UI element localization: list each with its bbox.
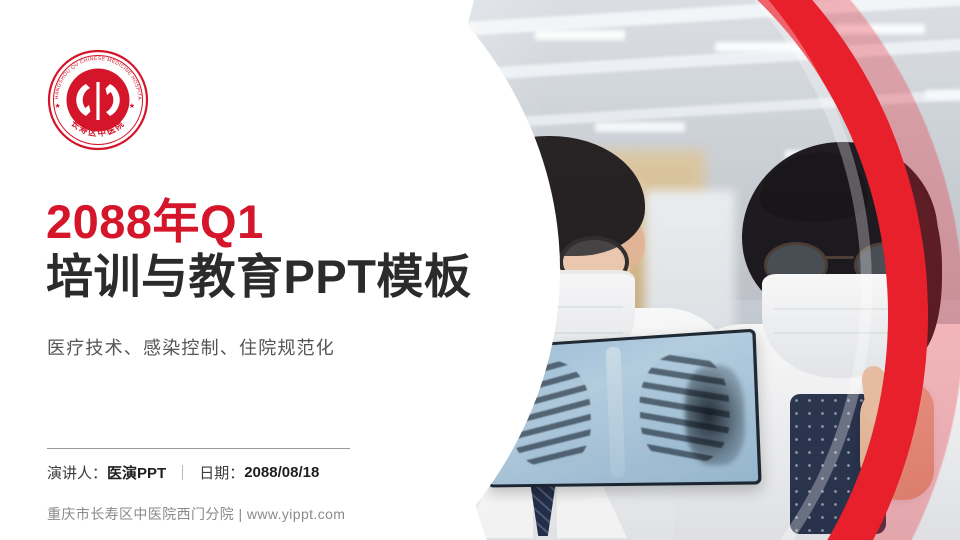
svg-text:★: ★ bbox=[55, 102, 61, 110]
hand-holding-film bbox=[860, 382, 934, 500]
xray-shadow-region bbox=[683, 364, 746, 466]
title-block: 2088年Q1 培训与教育PPT模板 bbox=[46, 196, 516, 304]
glasses-bridge bbox=[822, 256, 854, 259]
hospital-logo: CHANGSHOU QU CHINESE MEDICINE HOSPITAL 长… bbox=[46, 48, 150, 152]
presentation-cover-slide: CHANGSHOU QU CHINESE MEDICINE HOSPITAL 长… bbox=[0, 0, 960, 540]
speaker-label: 演讲人： bbox=[47, 462, 107, 483]
svg-text:★: ★ bbox=[129, 102, 135, 110]
glasses-bridge bbox=[531, 252, 561, 256]
organization-footer: 重庆市长寿区中医院西门分院 | www.yippt.com bbox=[47, 504, 345, 524]
date-value: 2088/08/18 bbox=[244, 464, 319, 481]
lung-field-left bbox=[508, 359, 593, 467]
page-title-year: 2088年Q1 bbox=[46, 196, 516, 249]
speaker-value: 医演PPT bbox=[107, 462, 166, 483]
hair-fringe bbox=[760, 152, 868, 222]
spine bbox=[606, 347, 626, 478]
chest-xray-film bbox=[483, 329, 762, 488]
date-label: 日期： bbox=[199, 462, 244, 483]
footer-divider bbox=[47, 448, 350, 449]
presentation-meta: 演讲人：医演PPT 日期：2088/08/18 bbox=[47, 462, 319, 483]
cover-content: CHANGSHOU QU CHINESE MEDICINE HOSPITAL 长… bbox=[46, 0, 466, 540]
meta-separator bbox=[182, 465, 183, 480]
page-subtitle: 医疗技术、感染控制、住院规范化 bbox=[47, 334, 335, 360]
page-title-main: 培训与教育PPT模板 bbox=[46, 249, 516, 304]
